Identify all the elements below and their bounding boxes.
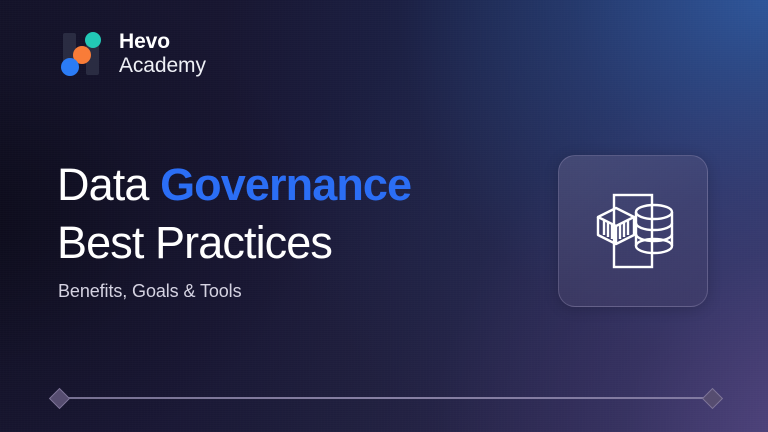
page-subtitle: Benefits, Goals & Tools [58,281,241,302]
brand-name-primary: Hevo [119,30,206,54]
divider-diamond-left-icon [49,388,70,409]
divider-diamond-right-icon [702,388,723,409]
slide-root: Hevo Academy Data Governance Best Practi… [0,0,768,432]
data-governance-icon [587,185,679,277]
brand-name-secondary: Academy [119,54,206,78]
brand-wordmark: Hevo Academy [119,30,206,77]
headline-line-1: Data Governance [57,156,527,214]
headline-accent-text: Governance [160,159,411,210]
data-governance-icon-card [558,155,708,307]
brand-logo: Hevo Academy [55,30,206,78]
divider-line [62,397,710,399]
logo-dot-teal-icon [85,32,101,48]
headline-line-2: Best Practices [57,214,527,272]
page-title: Data Governance Best Practices [57,156,527,272]
headline-plain-text: Data [57,159,160,210]
hevo-logo-mark-icon [55,30,107,78]
footer-divider [52,390,720,406]
logo-dot-blue-icon [61,58,79,76]
